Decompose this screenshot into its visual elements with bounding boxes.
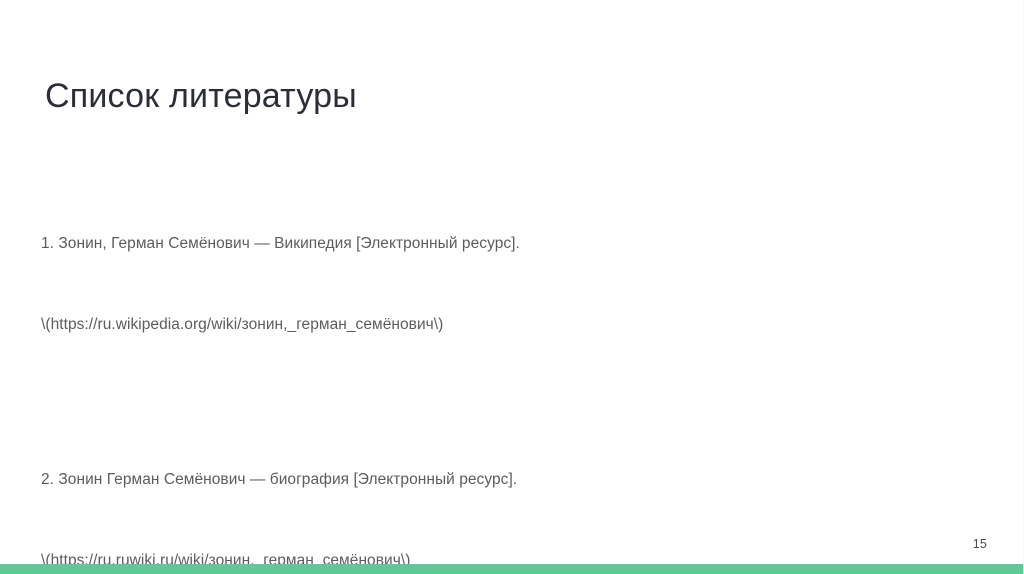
accent-bar [0,564,1024,574]
reference-title: 1. Зонин, Герман Семёнович — Википедия [… [41,230,991,257]
list-item: 1. Зонин, Герман Семёнович — Википедия [… [41,176,991,392]
list-item: 2. Зонин Герман Семёнович — биография [Э… [41,412,991,574]
page-number: 15 [973,536,987,552]
reference-title: 2. Зонин Герман Семёнович — биография [Э… [41,466,991,493]
reference-url: \(https://ru.wikipedia.org/wiki/зонин,_г… [41,311,991,338]
page-title: Список литературы [45,75,357,117]
reference-list: 1. Зонин, Герман Семёнович — Википедия [… [41,176,991,574]
slide-canvas: Список литературы 1. Зонин, Герман Семён… [0,0,1024,574]
